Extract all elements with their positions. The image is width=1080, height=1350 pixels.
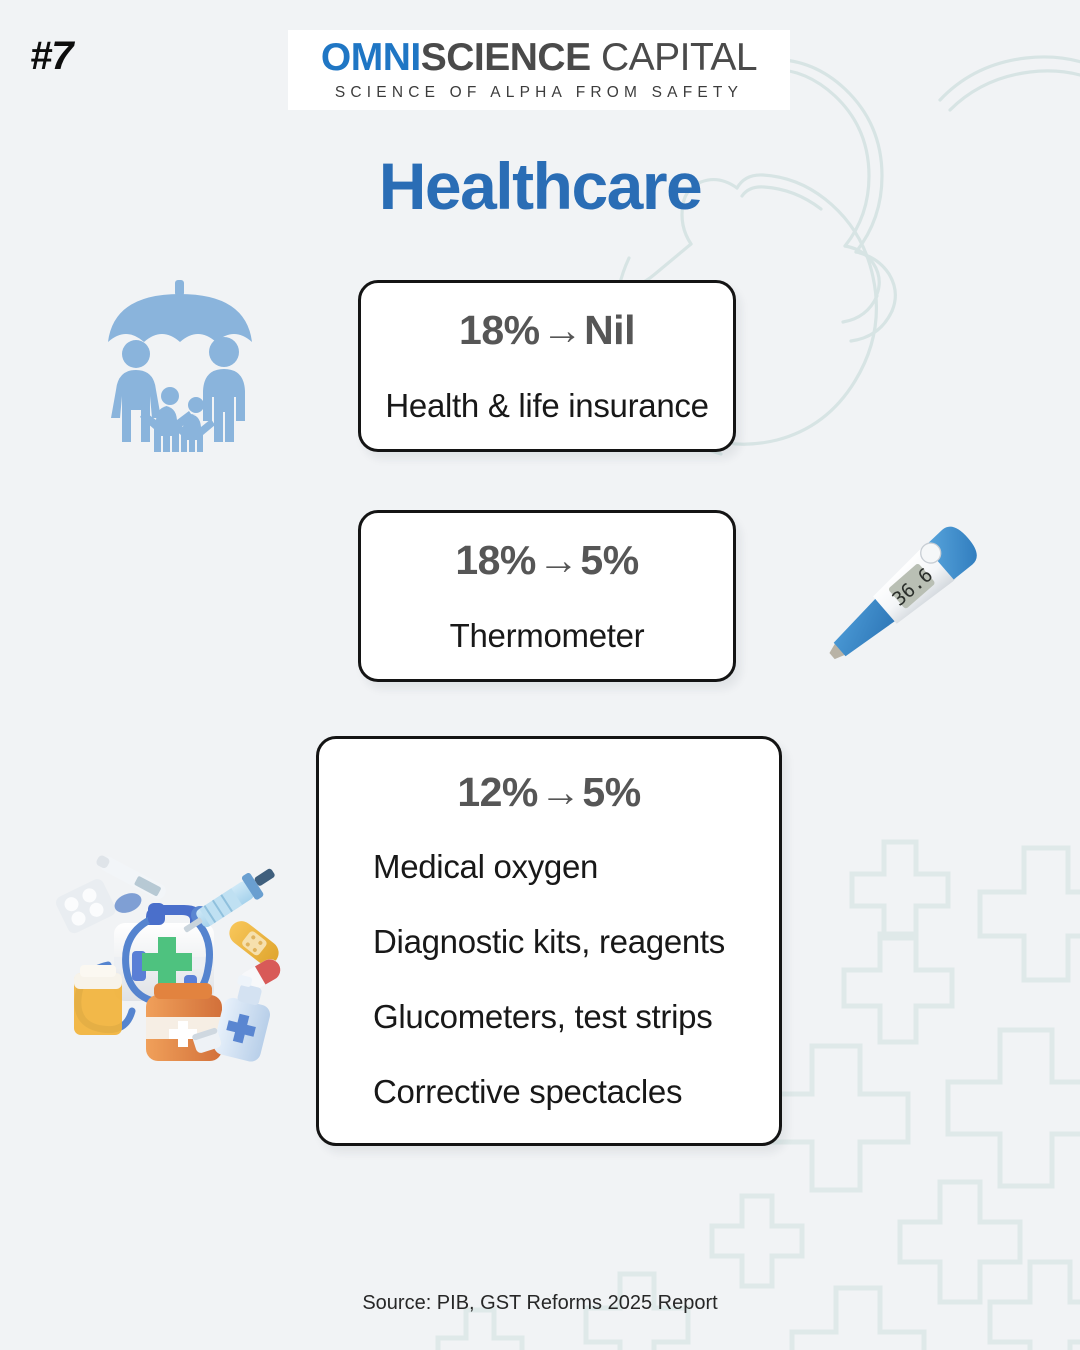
rate-from: 12% — [457, 769, 538, 815]
source-note: Source: PIB, GST Reforms 2025 Report — [0, 1292, 1080, 1315]
rate-from: 18% — [459, 307, 540, 353]
brand-word-science: SCIENCE — [421, 36, 591, 79]
rate-to: 5% — [580, 537, 638, 583]
rate-from: 18% — [455, 537, 536, 583]
blister-pack-icon — [54, 877, 118, 936]
stethoscope-chestpiece — [148, 903, 165, 925]
rate-to: Nil — [584, 307, 635, 353]
spray-bottle-icon — [212, 973, 278, 1064]
arrow-right-icon: → — [536, 537, 581, 583]
card-thermometer-rate: 18%→5% — [361, 537, 733, 584]
card-devices: 12%→5% Medical oxygen Diagnostic kits, r… — [316, 736, 782, 1146]
issue-number: #7 — [30, 34, 73, 79]
card-thermometer-label: Thermometer — [361, 617, 733, 655]
pill-bottle-amber-icon — [74, 965, 122, 1035]
list-item: Medical oxygen — [373, 848, 779, 886]
card-devices-rate: 12%→5% — [319, 769, 779, 816]
brand-word-capital: CAPITAL — [601, 36, 757, 79]
arrow-right-icon: → — [540, 307, 585, 353]
brand-tagline: SCIENCE OF ALPHA FROM SAFETY — [335, 84, 743, 102]
brand-wordmark: OMNISCIENCE CAPITAL — [321, 38, 757, 77]
card-insurance-label: Health & life insurance — [361, 387, 733, 425]
list-item: Corrective spectacles — [373, 1073, 779, 1111]
list-item: Glucometers, test strips — [373, 998, 779, 1036]
brand-logo: OMNISCIENCE CAPITAL SCIENCE OF ALPHA FRO… — [288, 30, 790, 110]
arrow-right-icon: → — [538, 769, 583, 815]
family-umbrella-insurance-icon — [100, 272, 260, 452]
card-insurance: 18%→Nil Health & life insurance — [358, 280, 736, 452]
list-item: Diagnostic kits, reagents — [373, 923, 779, 961]
page-title: Healthcare — [0, 148, 1080, 224]
brand-word-omni: OMNI — [321, 36, 421, 79]
card-insurance-rate: 18%→Nil — [361, 307, 733, 354]
rate-to: 5% — [582, 769, 640, 815]
device-list: Medical oxygen Diagnostic kits, reagents… — [319, 848, 779, 1111]
tablet-icon — [112, 889, 145, 916]
digital-thermometer-icon: 36.6 — [800, 525, 1000, 670]
card-thermometer: 18%→5% Thermometer — [358, 510, 736, 682]
medical-supplies-icon — [48, 845, 293, 1065]
